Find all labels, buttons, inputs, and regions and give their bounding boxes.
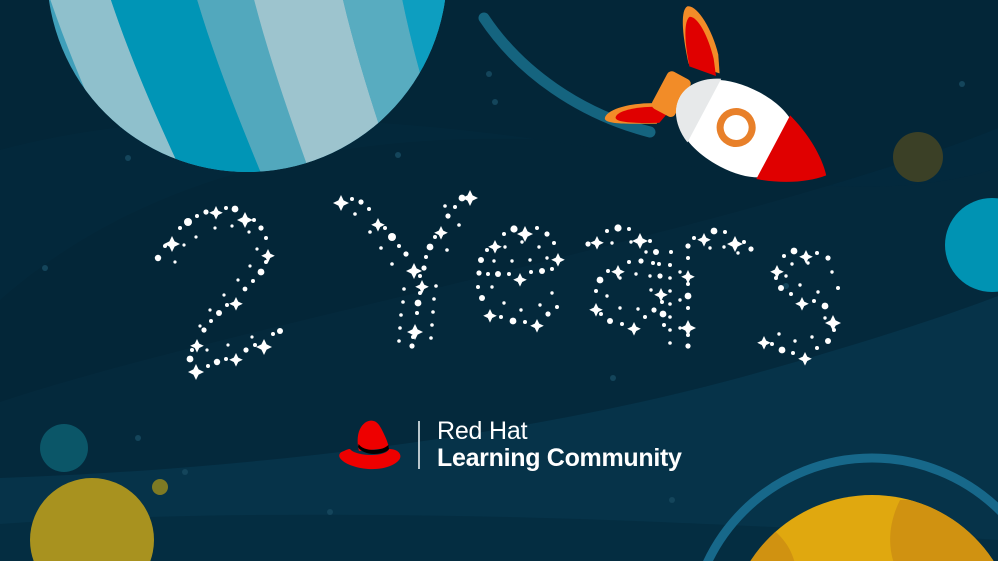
red-hat-learning-community-logo[interactable]: Red Hat Learning Community <box>338 416 682 474</box>
logo-wordmark: Red Hat Learning Community <box>437 418 682 472</box>
circle-olive-small-bottom-left <box>152 479 168 495</box>
hat-crown <box>358 421 389 451</box>
circle-olive-right <box>893 132 943 182</box>
space-scene-illustration <box>0 0 998 561</box>
logo-line-learning-community: Learning Community <box>437 445 682 472</box>
logo-divider <box>418 421 420 469</box>
circle-teal-bottom-left <box>40 424 88 472</box>
red-hat-fedora-icon <box>338 419 404 471</box>
logo-line-red-hat: Red Hat <box>437 418 682 445</box>
poster-canvas: Red Hat Learning Community <box>0 0 998 561</box>
